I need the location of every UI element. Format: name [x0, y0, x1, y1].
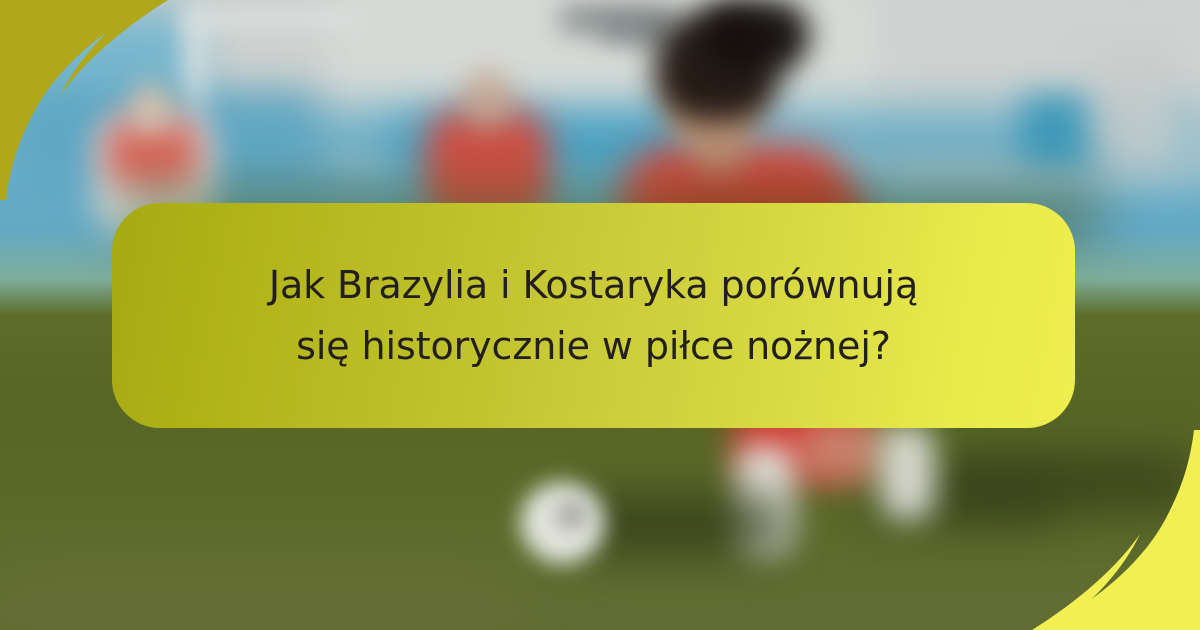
- soccer-ball-pattern: [555, 500, 589, 530]
- swoosh-bottom-right-icon: [950, 430, 1200, 630]
- question-card: Jak Brazylia i Kostaryka porównują się h…: [112, 203, 1075, 428]
- player-mid-head: [465, 70, 510, 128]
- player-main-hair-bun: [700, 0, 810, 70]
- social-card-canvas: Jak Brazylia i Kostaryka porównują się h…: [0, 0, 1200, 630]
- stadium-signage-teal: [1020, 95, 1100, 165]
- player-main-leg: [800, 420, 890, 480]
- swoosh-top-left-icon: [0, 0, 250, 200]
- player-main-sock-right: [880, 425, 935, 520]
- grass-highlight-bottom: [0, 560, 520, 630]
- card-title: Jak Brazylia i Kostaryka porównują się h…: [244, 255, 944, 375]
- spectator-right: [1090, 40, 1180, 170]
